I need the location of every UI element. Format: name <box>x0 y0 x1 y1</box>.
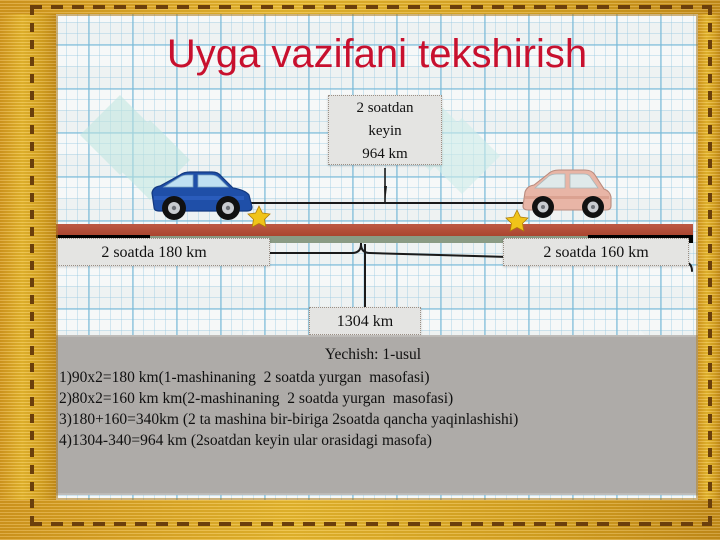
solution-line-1: 1)90x2=180 km(1-mashinaning 2 soatda yur… <box>59 367 687 388</box>
frame-stitching-bottom <box>30 522 712 526</box>
label-total-distance: 1304 km <box>309 307 421 335</box>
label-left-distance: 2 soatda 180 km <box>38 238 270 266</box>
slide-canvas: Uyga vazifani tekshirish 2 soatdan keyin… <box>0 0 720 540</box>
frame-border-left <box>0 0 56 540</box>
frame-stitching-top <box>30 5 712 9</box>
solution-line-3: 3)180+160=340km (2 ta mashina bir-biriga… <box>59 409 687 430</box>
frame-stitching-left <box>30 6 34 530</box>
frame-stitching-right <box>708 6 712 530</box>
solution-panel: Yechish: 1-usul 1)90x2=180 km(1-mashinan… <box>48 335 698 495</box>
solution-line-4: 4)1304-340=964 km (2soatdan keyin ular o… <box>59 430 687 451</box>
solution-line-2: 2)80x2=160 km km(2-mashinaning 2 soatda … <box>59 388 687 409</box>
frame-border-bottom <box>0 500 720 540</box>
solution-heading: Yechish: 1-usul <box>59 344 687 365</box>
label-right-distance: 2 soatda 160 km <box>503 238 689 266</box>
